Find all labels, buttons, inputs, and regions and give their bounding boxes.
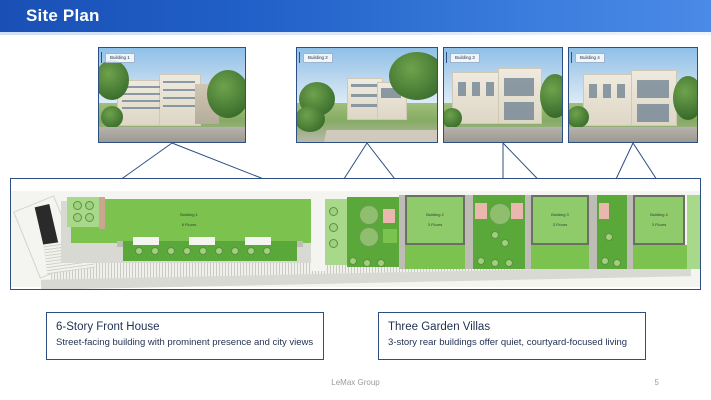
plan-gap-3 (589, 195, 597, 269)
photo-window (589, 84, 597, 98)
photo-label-building-1: Building 1 (105, 53, 135, 63)
plan-tree-dot (329, 239, 338, 248)
plan-tree-dot (167, 247, 175, 255)
photo-corner-tick (571, 52, 572, 63)
plan-east-green (687, 195, 701, 269)
plan-tree-dot (329, 207, 338, 216)
photo-window (603, 84, 611, 98)
plan-tree-dot (247, 247, 255, 255)
site-plan-diagram[interactable]: Building 1 6 Floors Building 2 3 Floors … (10, 178, 701, 290)
plan-tree-dot (477, 257, 485, 265)
photo-tree (101, 106, 123, 128)
photo-window-band (163, 105, 195, 107)
photo-window (504, 78, 534, 96)
photo-tree (568, 106, 589, 128)
header-underline (0, 32, 711, 35)
plan-b1-notch (189, 237, 215, 245)
plan-lawn-circle (359, 205, 379, 225)
photo-label-building-3: Building 3 (450, 53, 480, 63)
plan-patio (383, 209, 395, 223)
plan-label-building-1: Building 1 6 Floors (149, 207, 229, 227)
plan-b1-terrace (99, 197, 105, 229)
photo-tree (540, 74, 563, 118)
plan-gap-1 (311, 199, 325, 271)
photo-road (444, 127, 562, 142)
plan-tree-dot (363, 259, 371, 267)
plan-label-b3-floors: 3 Floors (553, 222, 567, 227)
photo-window-band (122, 93, 160, 95)
plan-label-building-4: Building 4 3 Floors (635, 207, 683, 227)
photo-building-2[interactable]: Building 2 (296, 47, 438, 143)
plan-tree-dot (215, 247, 223, 255)
plan-label-b4-floors: 3 Floors (652, 222, 666, 227)
photo-building-1[interactable]: Building 1 (98, 47, 246, 143)
caption-garden-villas-title: Three Garden Villas (388, 320, 636, 335)
photo-window (458, 82, 466, 96)
photo-window-band (122, 107, 160, 109)
caption-garden-villas[interactable]: Three Garden Villas 3-story rear buildin… (378, 312, 646, 360)
plan-tree-dot (491, 259, 499, 267)
plan-lawn-circle (489, 203, 511, 225)
photo-tree (443, 108, 462, 128)
photo-window-band (163, 89, 195, 91)
photo-window (472, 82, 480, 96)
plan-tree-dot (329, 223, 338, 232)
footer-company-name: LeMax Group (0, 378, 711, 387)
slide-header-bar (0, 0, 711, 32)
plan-tree-dot (183, 247, 191, 255)
photo-window-band (351, 84, 377, 87)
plan-label-building-2: Building 2 3 Floors (407, 207, 463, 227)
photo-label-building-4: Building 4 (575, 53, 605, 63)
plan-patio (511, 203, 523, 219)
plan-b1-garden-west (67, 197, 103, 227)
caption-garden-villas-body: 3-story rear buildings offer quiet, cour… (388, 336, 636, 349)
plan-tree-dot (85, 213, 94, 222)
photo-window (637, 104, 669, 122)
photo-building-4[interactable]: Building 4 (568, 47, 698, 143)
plan-tree-dot (231, 247, 239, 255)
plan-tree-dot (151, 247, 159, 255)
photo-corner-tick (446, 52, 447, 63)
photo-path (324, 130, 438, 143)
plan-tree-dot (605, 233, 613, 241)
photo-window (486, 82, 494, 96)
plan-gap-2 (465, 195, 473, 269)
plan-tree-dot (613, 259, 621, 267)
page-title: Site Plan (26, 6, 100, 26)
plan-label-b4-name: Building 4 (650, 212, 668, 217)
plan-tree-dot (505, 259, 513, 267)
plan-tree-dot (263, 247, 271, 255)
photo-window (637, 80, 669, 98)
photo-corner-tick (101, 52, 102, 63)
plan-lawn-square (383, 229, 397, 243)
plan-label-b1-name: Building 1 (180, 212, 198, 217)
photo-tree (207, 70, 246, 118)
photo-window-band (163, 81, 195, 83)
plan-tree-dot (601, 257, 609, 265)
plan-lawn-circle (359, 227, 379, 247)
plan-villa-4-garden (633, 245, 689, 269)
photo-building-3[interactable]: Building 3 (443, 47, 563, 143)
photo-label-building-2: Building 2 (303, 53, 333, 63)
photo-tree (296, 106, 325, 132)
photo-corner-tick (299, 52, 300, 63)
plan-tree-dot (73, 201, 82, 210)
plan-label-building-3: Building 3 3 Floors (533, 207, 587, 227)
plan-villa-2-garden (405, 245, 465, 269)
footer-page-number: 5 (655, 378, 659, 387)
plan-tree-dot (377, 259, 385, 267)
photo-window-band (351, 94, 377, 97)
photo-tree (389, 52, 438, 100)
photo-window-band (163, 97, 195, 99)
photo-window (504, 102, 534, 120)
plan-tree-dot (135, 247, 143, 255)
plan-villa-3-garden (531, 245, 589, 269)
photo-road (569, 127, 697, 142)
plan-tree-dot (199, 247, 207, 255)
plan-patio (475, 203, 487, 219)
photo-road (99, 127, 245, 142)
plan-patio (599, 203, 609, 219)
photo-window-band (351, 104, 377, 107)
plan-label-b1-floors: 6 Floors (182, 222, 196, 227)
plan-label-b2-floors: 3 Floors (428, 222, 442, 227)
photo-building-mass (583, 74, 637, 126)
caption-front-house-body: Street-facing building with prominent pr… (56, 336, 314, 349)
plan-tree-dot (491, 231, 499, 239)
plan-tree-dot (501, 239, 509, 247)
plan-b1-notch (133, 237, 159, 245)
plan-label-b2-name: Building 2 (426, 212, 444, 217)
photo-window-band (122, 100, 160, 102)
caption-front-house[interactable]: 6-Story Front House Street-facing buildi… (46, 312, 324, 360)
caption-front-house-title: 6-Story Front House (56, 320, 314, 335)
photo-window (617, 84, 625, 98)
plan-b1-notch (245, 237, 271, 245)
photo-tree (673, 76, 698, 120)
plan-tree-dot (73, 213, 82, 222)
plan-tree-dot (349, 257, 357, 265)
plan-tree-dot (85, 201, 94, 210)
plan-label-b3-name: Building 3 (551, 212, 569, 217)
